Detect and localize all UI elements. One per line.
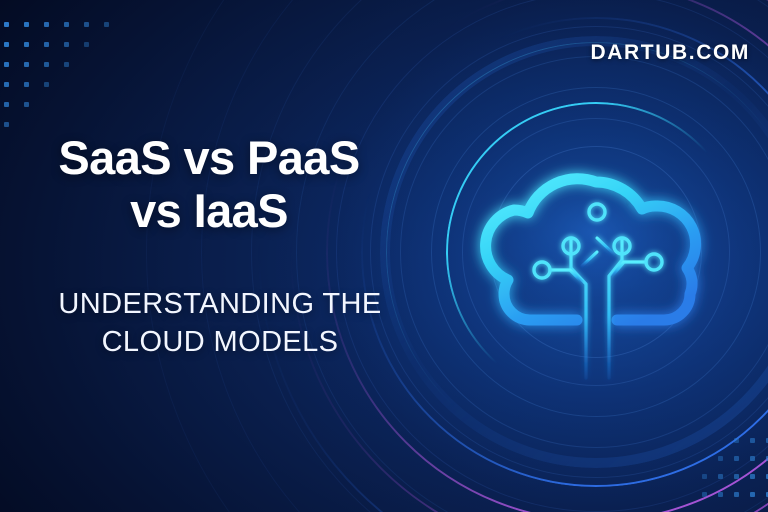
page-subtitle: UNDERSTANDING THE CLOUD MODELS — [0, 285, 440, 362]
page-subtitle-line-2: CLOUD MODELS — [0, 323, 440, 361]
cloud-circuit-icon — [446, 110, 746, 390]
dot-grid-top-left — [0, 0, 140, 130]
dot-grid-bottom-right — [694, 430, 768, 512]
page-title-line-2: vs IaaS — [0, 185, 418, 238]
poster-canvas: DARTUB.COM SaaS vs PaaS vs IaaS UNDERSTA… — [0, 0, 768, 512]
page-title-line-1: SaaS vs PaaS — [0, 132, 418, 185]
page-title: SaaS vs PaaS vs IaaS — [0, 132, 418, 237]
site-logo[interactable]: DARTUB.COM — [591, 41, 750, 65]
page-subtitle-line-1: UNDERSTANDING THE — [0, 285, 440, 323]
